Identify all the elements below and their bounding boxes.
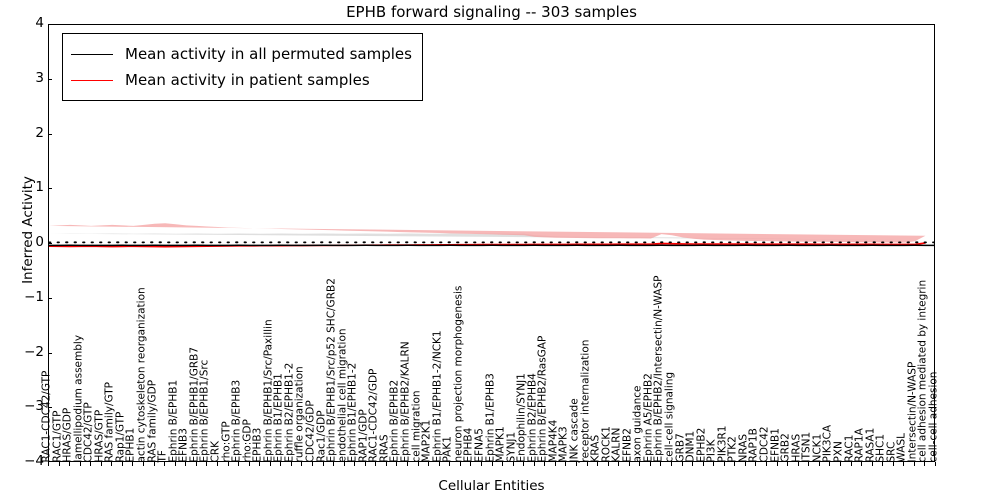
x-axis-tick-label: PXN [833, 441, 844, 462]
x-axis-tick-mark [164, 462, 165, 466]
legend-item-patient: Mean activity in patient samples [71, 67, 412, 93]
x-axis-tick-label: CDC42/GDP [305, 400, 316, 462]
x-axis-tick-mark [513, 462, 514, 466]
y-axis-tick-label: −2 [4, 344, 44, 360]
x-axis-tick-label: cell-cell adhesion [929, 371, 940, 462]
x-axis-tick-label: CRK [210, 440, 221, 462]
x-axis-tick-mark [175, 462, 176, 466]
x-axis-tick-mark [861, 462, 862, 466]
x-axis-tick-mark [703, 462, 704, 466]
x-axis-tick-mark [808, 462, 809, 466]
x-axis-tick-labels: RAC1-CDC42/GTPRAC1/GTPHRAS/GDPlamellipod… [48, 248, 935, 462]
chart-title: EPHB forward signaling -- 303 samples [48, 2, 935, 22]
x-axis-tick-mark [238, 462, 239, 466]
x-axis-tick-label: Ephrin B/EPHB2/KALRN [401, 341, 412, 462]
y-axis-tick-label: −1 [4, 289, 44, 305]
x-axis-tick-mark [660, 462, 661, 466]
x-axis-tick-mark [914, 462, 915, 466]
x-axis-tick-mark [90, 462, 91, 466]
x-axis-tick-mark [407, 462, 408, 466]
x-axis-tick-mark [682, 462, 683, 466]
x-axis-tick-mark [344, 462, 345, 466]
x-axis-tick-mark [671, 462, 672, 466]
x-axis-tick-mark [228, 462, 229, 466]
x-axis-tick-mark [734, 462, 735, 466]
x-axis-tick-mark [639, 462, 640, 466]
x-axis-tick-label: RAC1-CDC42/GTP [42, 370, 53, 462]
x-axis-tick-mark [259, 462, 260, 466]
x-axis-tick-mark [154, 462, 155, 466]
x-axis-tick-mark [59, 462, 60, 466]
x-axis-tick-mark [608, 462, 609, 466]
x-axis-tick-mark [724, 462, 725, 466]
x-axis-tick-mark [375, 462, 376, 466]
y-axis-tick-label: 0 [4, 234, 44, 250]
x-axis-tick-mark [576, 462, 577, 466]
x-axis-tick-mark [829, 462, 830, 466]
x-axis-tick-mark [69, 462, 70, 466]
x-axis-tick-mark [217, 462, 218, 466]
x-axis-tick-mark [111, 462, 112, 466]
x-axis-tick-mark [587, 462, 588, 466]
x-axis-tick-mark [80, 462, 81, 466]
y-axis-tick-mark [48, 134, 52, 135]
x-axis-tick-label: actin cytoskeleton reorganization [137, 287, 148, 462]
x-axis-tick-mark [418, 462, 419, 466]
x-axis-tick-label: JNK cascade [569, 398, 580, 462]
y-axis-tick-mark [48, 243, 52, 244]
y-axis-tick-label: −3 [4, 398, 44, 414]
x-axis-label: Cellular Entities [48, 478, 935, 494]
x-axis-tick-mark [872, 462, 873, 466]
x-axis-tick-mark [565, 462, 566, 466]
x-axis-tick-mark [470, 462, 471, 466]
y-axis-tick-mark [48, 188, 52, 189]
x-axis-tick-mark [365, 462, 366, 466]
x-axis-tick-mark [903, 462, 904, 466]
x-axis-tick-mark [851, 462, 852, 466]
x-axis-tick-mark [185, 462, 186, 466]
y-axis-tick-label: 3 [4, 70, 44, 86]
x-axis-tick-mark [481, 462, 482, 466]
y-axis-tick-mark [48, 79, 52, 80]
x-axis-tick-mark [629, 462, 630, 466]
x-axis-tick-mark [555, 462, 556, 466]
legend: Mean activity in all permuted samples Me… [62, 33, 423, 101]
x-axis-tick-mark [745, 462, 746, 466]
x-axis-tick-mark [893, 462, 894, 466]
x-axis-tick-mark [449, 462, 450, 466]
x-axis-tick-label: cell-cell signaling [665, 371, 676, 462]
x-axis-tick-mark [713, 462, 714, 466]
x-axis-tick-label: Ephrin B/EPHB3 [232, 379, 243, 462]
x-axis-tick-mark [206, 462, 207, 466]
x-axis-tick-mark [618, 462, 619, 466]
x-axis-tick-mark [766, 462, 767, 466]
x-axis-tick-mark [692, 462, 693, 466]
x-axis-tick-mark [354, 462, 355, 466]
x-axis-tick-mark [544, 462, 545, 466]
x-axis-tick-label: EFNA5 [474, 428, 485, 462]
y-axis-tick-label: −4 [4, 453, 44, 469]
x-axis-tick-mark [492, 462, 493, 466]
x-axis-tick-mark [270, 462, 271, 466]
legend-line-swatch-permuted [71, 54, 113, 55]
y-axis-tick-label: 2 [4, 125, 44, 141]
x-axis-tick-mark [882, 462, 883, 466]
x-axis-tick-mark [819, 462, 820, 466]
x-axis-tick-label: CDC42 [760, 426, 771, 462]
x-axis-tick-mark [777, 462, 778, 466]
y-axis-tick-mark [48, 353, 52, 354]
y-axis-tick-labels: −4−3−2−101234 [0, 24, 44, 462]
x-axis-tick-mark [523, 462, 524, 466]
x-axis-tick-mark [333, 462, 334, 466]
x-axis-tick-mark [249, 462, 250, 466]
x-axis-tick-mark [122, 462, 123, 466]
x-axis-tick-mark [48, 462, 49, 466]
x-axis-tick-mark [396, 462, 397, 466]
x-axis-tick-mark [597, 462, 598, 466]
legend-label-patient: Mean activity in patient samples [125, 71, 370, 89]
x-axis-tick-mark [787, 462, 788, 466]
x-axis-tick-mark [196, 462, 197, 466]
y-axis-tick-mark [48, 298, 52, 299]
x-axis-tick-mark [502, 462, 503, 466]
x-axis-tick-mark [386, 462, 387, 466]
x-axis-tick-mark [650, 462, 651, 466]
x-axis-tick-mark [132, 462, 133, 466]
x-axis-tick-label: RAP1A [855, 428, 866, 462]
chart-figure: EPHB forward signaling -- 303 samples In… [0, 0, 1000, 500]
x-axis-tick-mark [312, 462, 313, 466]
x-axis-tick-mark [439, 462, 440, 466]
x-axis-tick-mark [840, 462, 841, 466]
patient-confidence-band [49, 223, 925, 242]
x-axis-tick-mark [755, 462, 756, 466]
x-axis-tick-mark [460, 462, 461, 466]
legend-label-permuted: Mean activity in all permuted samples [125, 45, 412, 63]
x-axis-tick-mark [301, 462, 302, 466]
x-axis-tick-mark [323, 462, 324, 466]
x-axis-tick-mark [143, 462, 144, 466]
x-axis-tick-mark [428, 462, 429, 466]
x-axis-tick-mark [280, 462, 281, 466]
legend-line-swatch-patient [71, 80, 113, 81]
x-axis-tick-mark [798, 462, 799, 466]
x-axis-tick-mark [534, 462, 535, 466]
x-axis-tick-label: MAPK1 [496, 426, 507, 462]
x-axis-tick-mark [101, 462, 102, 466]
y-axis-tick-label: 1 [4, 179, 44, 195]
legend-item-permuted: Mean activity in all permuted samples [71, 41, 412, 67]
x-axis-tick-mark [935, 462, 936, 466]
x-axis-tick-mark [924, 462, 925, 466]
y-axis-tick-mark [48, 407, 52, 408]
y-axis-tick-label: 4 [4, 15, 44, 31]
x-axis-tick-mark [291, 462, 292, 466]
